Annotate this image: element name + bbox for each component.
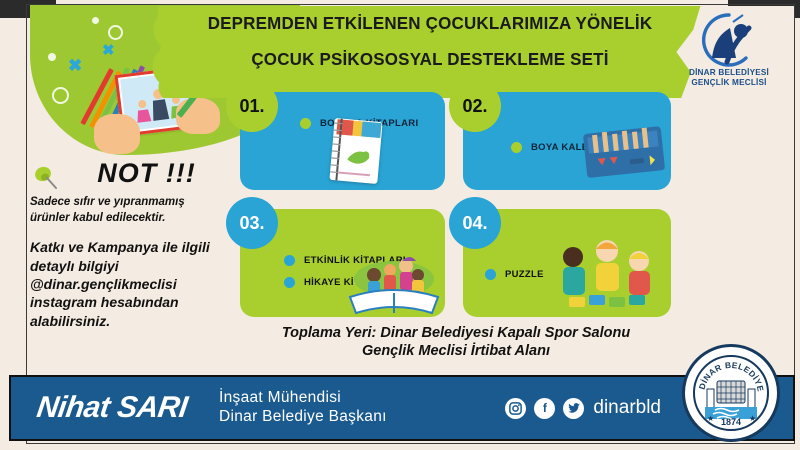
svg-text:1874: 1874 xyxy=(721,417,741,427)
item-card-3[interactable]: 03. ETKİNLİK KİTAPLARI HİKAYE KİTAPLARI xyxy=(240,209,445,317)
decor-dot xyxy=(92,17,99,24)
bullet-dot xyxy=(300,118,311,129)
crayon-box-icon xyxy=(583,126,665,178)
svg-text:★: ★ xyxy=(707,414,714,423)
open-book-children-icon xyxy=(344,249,444,311)
bullet-dot xyxy=(485,269,496,280)
footer-bar: Nihat SARI İnşaat Mühendisi Dinar Beledi… xyxy=(9,375,795,441)
item-card-4[interactable]: 04. PUZZLE xyxy=(463,209,671,317)
collection-point-text: Toplama Yeri: Dinar Belediyesi Kapalı Sp… xyxy=(236,324,676,360)
decor-ring xyxy=(108,25,123,40)
coloring-book-icon xyxy=(329,118,382,184)
item-card-1[interactable]: 01. BOYAMA KİTAPLARI xyxy=(240,92,445,190)
mayor-title-block: İnşaat Mühendisi Dinar Belediye Başkanı xyxy=(219,389,387,426)
mayor-role-line-1: İnşaat Mühendisi xyxy=(219,389,387,408)
note-body: Katkı ve Kampanya ile ilgili detaylı bil… xyxy=(30,238,245,330)
item-card-2[interactable]: 02. BOYA KALEMLERİ xyxy=(463,92,671,190)
municipality-seal: DİNAR BELEDİYESİ 1874 ★ ★ xyxy=(682,344,780,442)
bullet-dot xyxy=(284,277,295,288)
note-subtitle: Sadece sıfır ve yıpranmamış ürünler kabu… xyxy=(30,195,245,226)
twitter-icon[interactable] xyxy=(563,398,584,419)
note-title: NOT !!! xyxy=(48,158,245,189)
puzzle-children-icon xyxy=(551,235,661,311)
header-line-2: ÇOCUK PSİKOSOSYAL DESTEKLEME SETİ xyxy=(207,50,653,69)
social-links[interactable]: f dinarbld xyxy=(505,397,661,419)
mayor-signature: Nihat SARI xyxy=(35,391,190,425)
youth-council-name-line-1: DİNAR BELEDİYESİ xyxy=(674,68,784,78)
facebook-icon[interactable]: f xyxy=(534,398,555,419)
note-panel: NOT !!! Sadece sıfır ve yıpranmamış ürün… xyxy=(30,158,245,330)
item-badge-2: 02. xyxy=(449,80,501,132)
item-4-bullet-row: PUZZLE xyxy=(485,269,544,280)
bullet-dot xyxy=(284,255,295,266)
decor-dot xyxy=(48,53,56,61)
mayor-role-line-2: Dinar Belediye Başkanı xyxy=(219,408,387,427)
youth-council-name-line-2: GENÇLİK MECLİSİ xyxy=(674,78,784,88)
header-line-1: DEPREMDEN ETKİLENEN ÇOCUKLARIMIZA YÖNELİ… xyxy=(207,14,653,33)
youth-council-logo: DİNAR BELEDİYESİ GENÇLİK MECLİSİ xyxy=(674,12,784,89)
header-title-block: DEPREMDEN ETKİLENEN ÇOCUKLARIMIZA YÖNELİ… xyxy=(200,14,660,70)
hand-left xyxy=(94,114,140,154)
bullet-dot xyxy=(511,142,522,153)
item-4-label: PUZZLE xyxy=(505,269,544,280)
item-badge-4: 04. xyxy=(449,197,501,249)
seal-inner: DİNAR BELEDİYESİ 1874 ★ ★ xyxy=(693,355,769,431)
youth-council-figure-icon xyxy=(697,12,761,68)
social-handle[interactable]: dinarbld xyxy=(593,397,661,419)
collection-line-2: Gençlik Meclisi İrtibat Alanı xyxy=(236,342,676,360)
collection-line-1: Toplama Yeri: Dinar Belediyesi Kapalı Sp… xyxy=(236,324,676,342)
instagram-icon[interactable] xyxy=(505,398,526,419)
item-badge-1: 01. xyxy=(226,80,278,132)
poster-canvas: ✖ ✖ DEPREMDEN ETKİLENEN ÇOCUKLARIMIZA YÖ… xyxy=(0,0,800,450)
item-badge-3: 03. xyxy=(226,197,278,249)
svg-text:★: ★ xyxy=(749,414,756,423)
pushpin-icon xyxy=(32,164,58,190)
